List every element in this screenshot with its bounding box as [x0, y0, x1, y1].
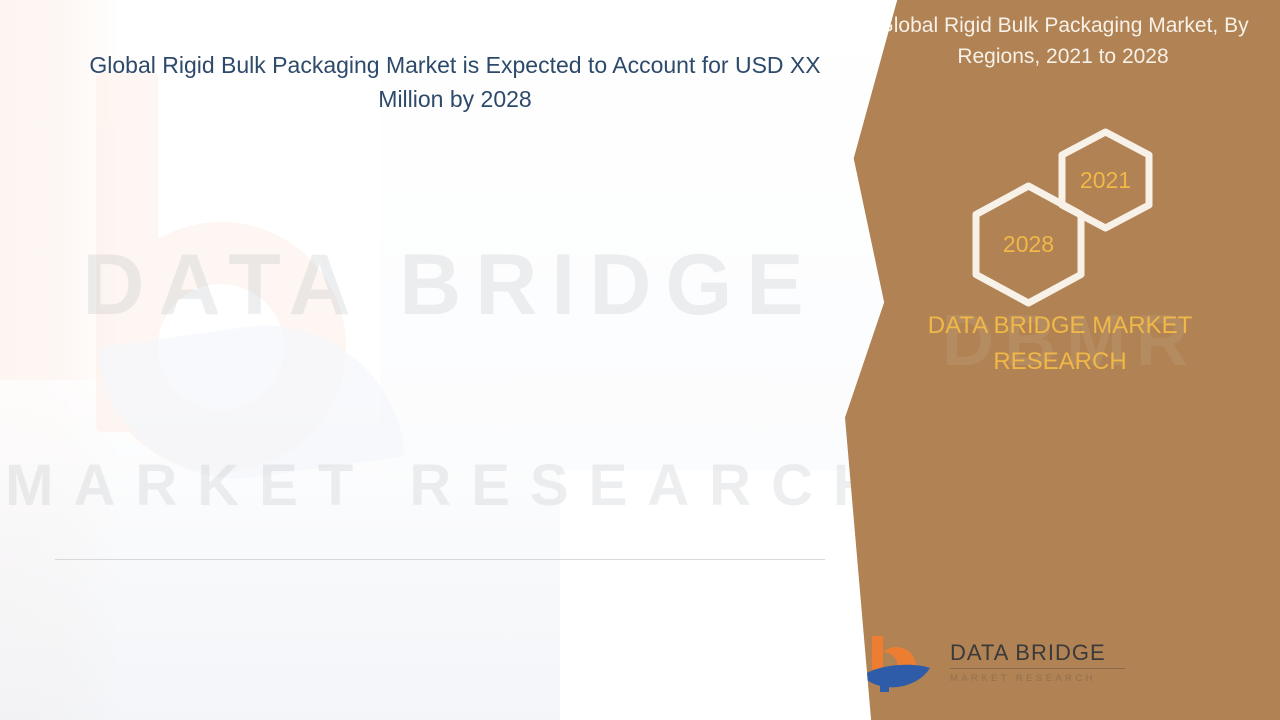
branding-panel: DBMR Global Rigid Bulk Packaging Market,… [845, 0, 1280, 720]
panel-title: Global Rigid Bulk Packaging Market, By R… [863, 10, 1263, 72]
x-axis-line [55, 559, 825, 560]
chart-panel: DATA BRIDGE MARKET RESEARCH Global Rigid… [0, 0, 900, 720]
logo-subtitle: MARKET RESEARCH [950, 673, 1125, 684]
chart-title: Global Rigid Bulk Packaging Market is Ex… [55, 48, 855, 116]
logo-title: DATA BRIDGE [950, 640, 1125, 669]
hexagon-badge-2021: 2021 [1057, 128, 1154, 232]
brand-name: DATA BRIDGE MARKET RESEARCH [860, 308, 1260, 380]
data-bridge-logo-icon [860, 632, 942, 702]
hexagon-label-2028: 2028 [1003, 231, 1054, 258]
slide-canvas: DATA BRIDGE MARKET RESEARCH Global Rigid… [0, 0, 1280, 720]
bars-container [55, 140, 825, 559]
plot-area [55, 140, 825, 559]
hexagon-label-2021: 2021 [1080, 167, 1131, 194]
company-logo: DATA BRIDGE MARKET RESEARCH [860, 632, 1110, 704]
logo-text-block: DATA BRIDGE MARKET RESEARCH [950, 640, 1125, 684]
